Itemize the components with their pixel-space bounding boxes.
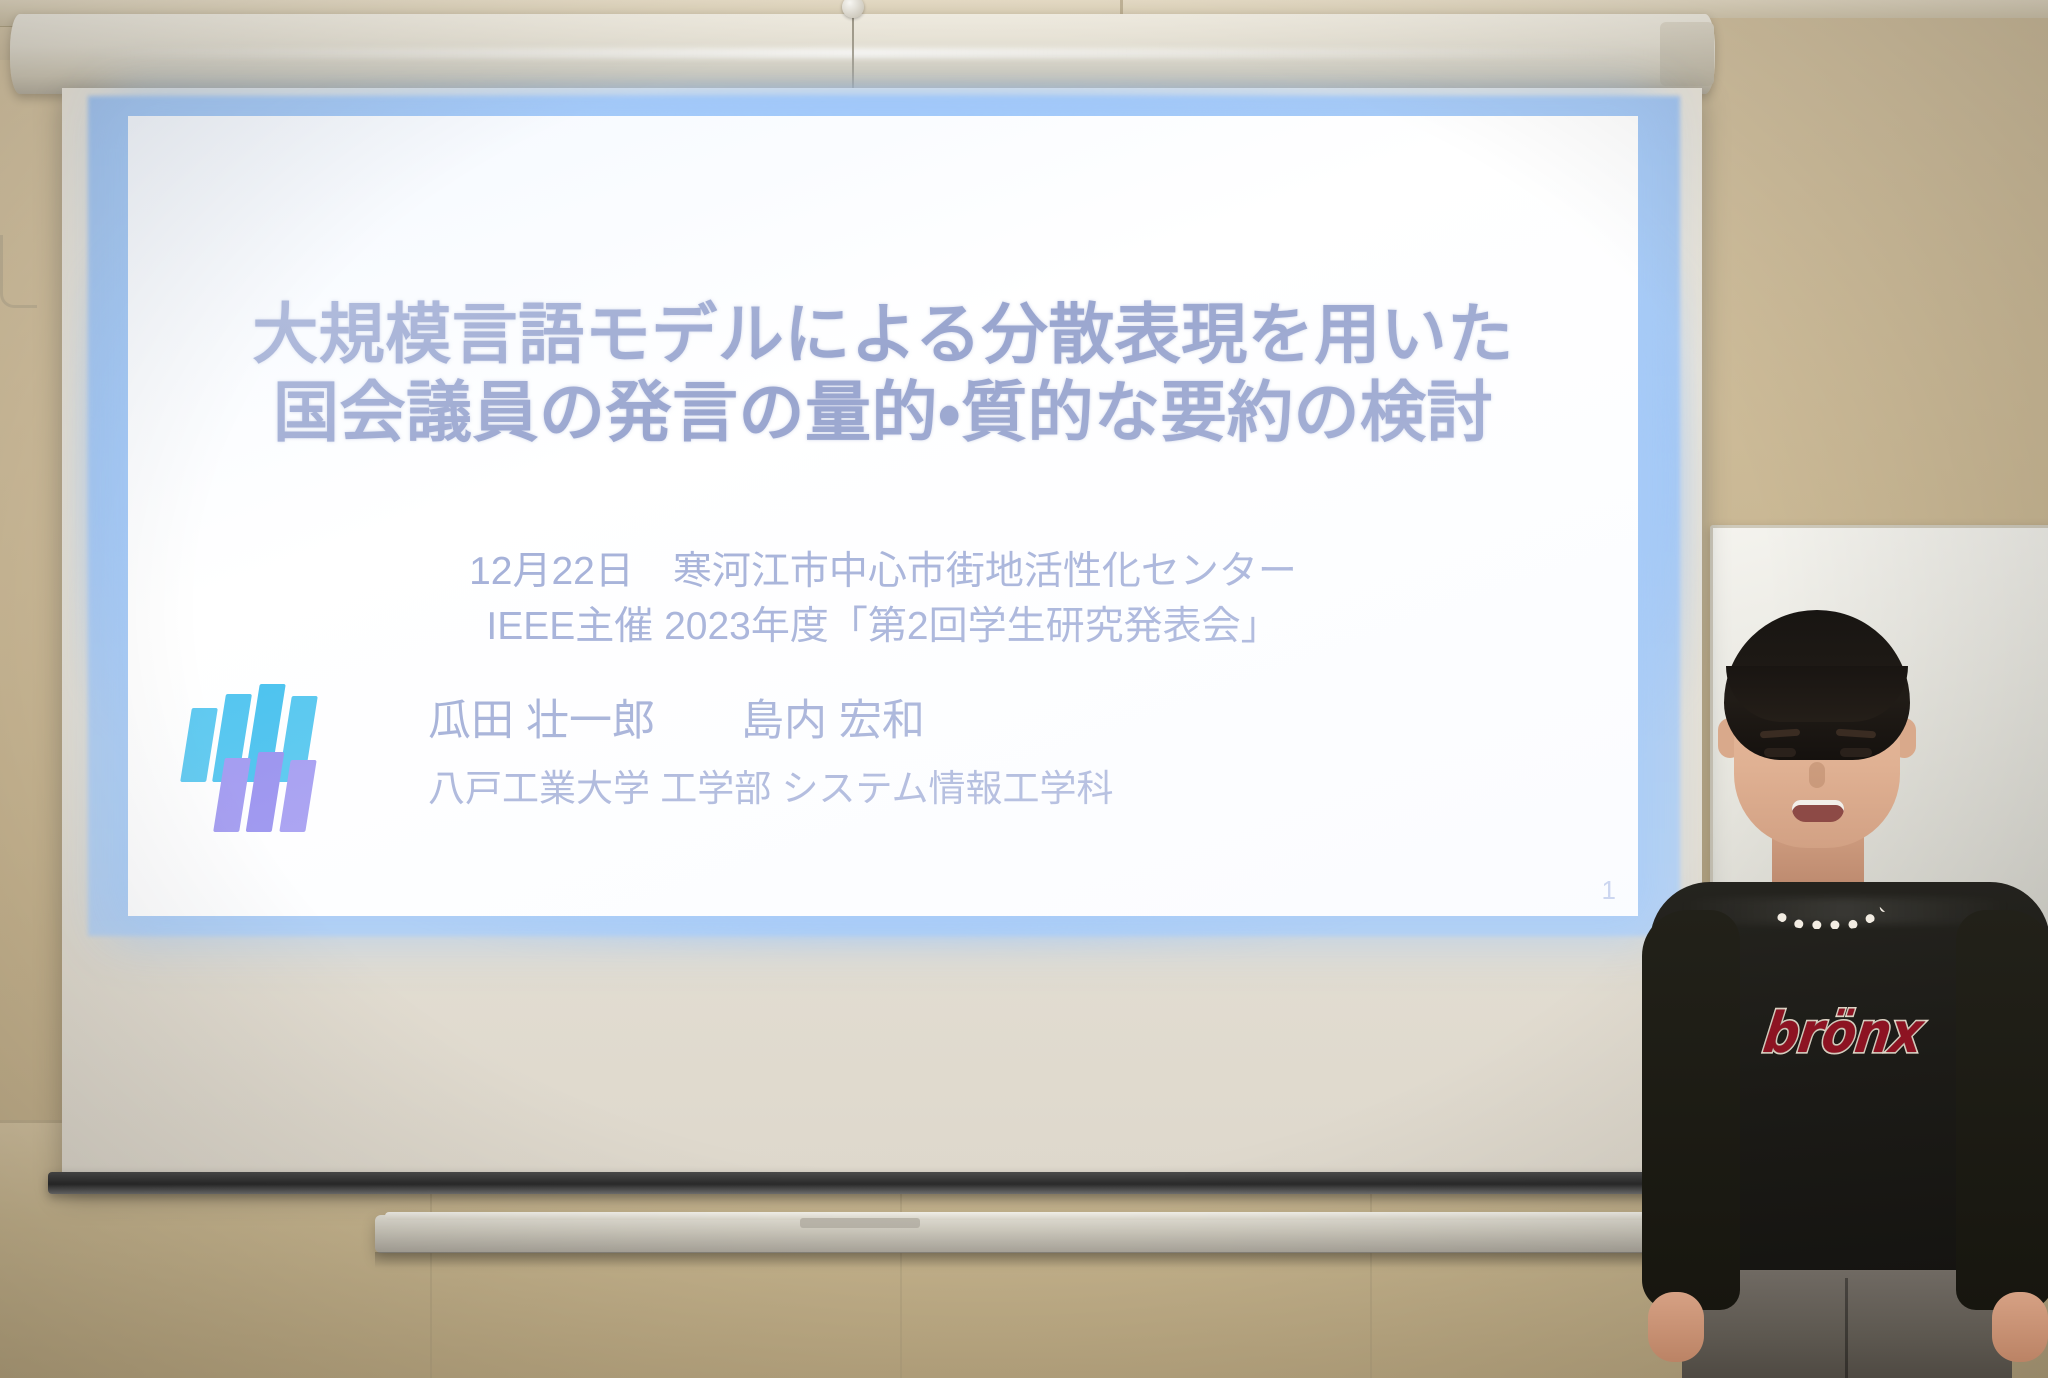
eye-left (1764, 748, 1796, 757)
logo-bar-0 (180, 708, 218, 782)
presenter: brönx (1640, 610, 2048, 1378)
eye-right (1840, 748, 1872, 757)
hand-left (1648, 1292, 1704, 1362)
mouth (1792, 800, 1844, 822)
slide-title: 大規模言語モデルによる分散表現を用いた 国会議員の発言の量的・質的な要約の検討 (128, 296, 1638, 452)
desk-shadow (375, 1252, 1675, 1268)
pants-seam (1845, 1278, 1848, 1378)
classroom-presentation-photo: 大規模言語モデルによる分散表現を用いた 国会議員の発言の量的・質的な要約の検討 … (0, 0, 2048, 1378)
slide-subtitle-event: IEEE主催 2023年度「第2回学生研究発表会」 (128, 599, 1638, 654)
presentation-slide: 大規模言語モデルによる分散表現を用いた 国会議員の発言の量的・質的な要約の検討 … (128, 116, 1638, 916)
slide-title-line-1: 大規模言語モデルによる分散表現を用いた (128, 296, 1638, 374)
university-logo-icon (186, 682, 316, 832)
front-desk-rail (375, 1215, 1675, 1253)
wall-cable (0, 235, 37, 308)
slide-page-number: 1 (1602, 875, 1616, 906)
arm-left (1642, 910, 1740, 1310)
arm-right (1956, 910, 2048, 1310)
slide-authors: 瓜田 壮一郎 島内 宏和 (428, 686, 1528, 748)
front-desk-rail-top (385, 1212, 1665, 1220)
nose (1809, 762, 1825, 788)
projector-screen-case[interactable] (10, 14, 1715, 94)
slide-title-line-2: 国会議員の発言の量的・質的な要約の検討 (128, 374, 1638, 452)
slide-subtitle-venue: 12月22日 寒河江市中心市街地活性化センター (128, 544, 1638, 599)
hair-fringe (1726, 666, 1908, 722)
sweater-logo-text: brönx (1760, 1001, 1927, 1066)
desk-notch (800, 1218, 920, 1228)
case-highlight (70, 48, 1650, 58)
sweater-graphic: brönx (1718, 996, 1968, 1070)
screen-case-end-cap (1660, 22, 1714, 86)
screen-bottom-rail (48, 1172, 1716, 1194)
hand-right (1992, 1292, 2048, 1362)
slide-affiliation: 八戸工業大学 工学部 システム情報工学科 (428, 758, 1568, 812)
slide-subtitle: 12月22日 寒河江市中心市街地活性化センター IEEE主催 2023年度「第2… (128, 544, 1638, 655)
